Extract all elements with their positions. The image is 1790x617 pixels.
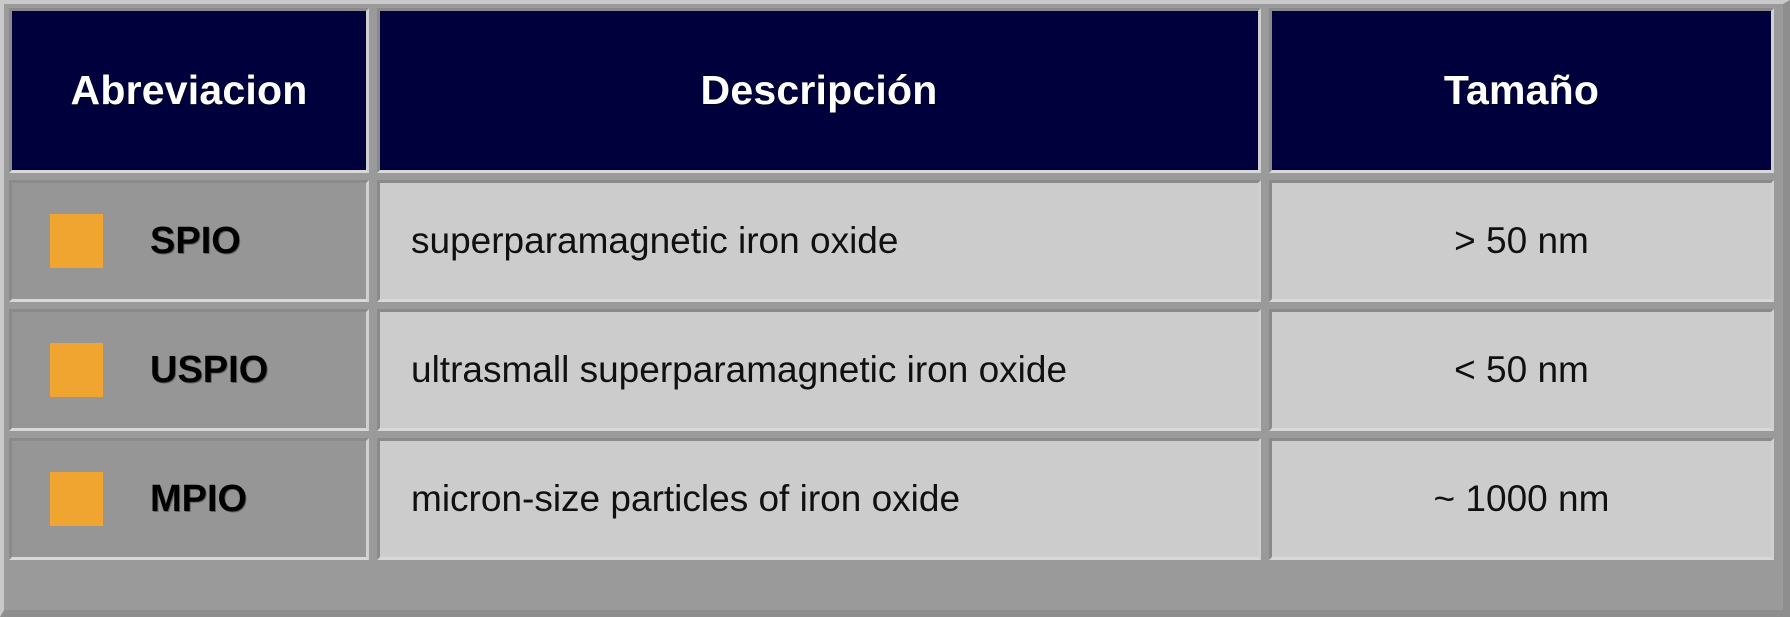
cell-size: ~ 1000 nm (1269, 438, 1774, 560)
cell-size: > 50 nm (1269, 180, 1774, 302)
column-header-description-label: Descripción (701, 67, 938, 114)
cell-description: ultrasmall superparamagnetic iron oxide (377, 309, 1261, 431)
table-row: SPIO superparamagnetic iron oxide > 50 n… (9, 180, 1774, 302)
column-header-abbreviation: Abreviacion (9, 8, 369, 173)
cell-abbreviation: SPIO (9, 180, 369, 302)
abbreviation-table: Abreviacion Descripción Tamaño SPIO supe… (0, 0, 1790, 617)
cell-abbreviation: USPIO (9, 309, 369, 431)
size-label: < 50 nm (1454, 349, 1589, 391)
abbreviation-label: SPIO (150, 220, 241, 263)
table-row: MPIO micron-size particles of iron oxide… (9, 438, 1774, 560)
cell-abbreviation: MPIO (9, 438, 369, 560)
description-label: superparamagnetic iron oxide (411, 220, 898, 262)
cell-description: superparamagnetic iron oxide (377, 180, 1261, 302)
size-label: ~ 1000 nm (1434, 478, 1610, 520)
abbreviation-label: USPIO (150, 349, 268, 392)
cell-size: < 50 nm (1269, 309, 1774, 431)
color-swatch-icon (50, 343, 103, 397)
color-swatch-icon (50, 214, 103, 268)
cell-description: micron-size particles of iron oxide (377, 438, 1261, 560)
size-label: > 50 nm (1454, 220, 1589, 262)
table-header-row: Abreviacion Descripción Tamaño (9, 8, 1774, 173)
table-grid: Abreviacion Descripción Tamaño SPIO supe… (9, 8, 1774, 610)
abbreviation-label: MPIO (150, 478, 247, 521)
column-header-description: Descripción (377, 8, 1261, 173)
description-label: micron-size particles of iron oxide (411, 478, 960, 520)
color-swatch-icon (50, 472, 103, 526)
column-header-size: Tamaño (1269, 8, 1774, 173)
table-row: USPIO ultrasmall superparamagnetic iron … (9, 309, 1774, 431)
column-header-size-label: Tamaño (1444, 67, 1599, 114)
description-label: ultrasmall superparamagnetic iron oxide (411, 349, 1067, 391)
column-header-abbreviation-label: Abreviacion (71, 67, 308, 114)
